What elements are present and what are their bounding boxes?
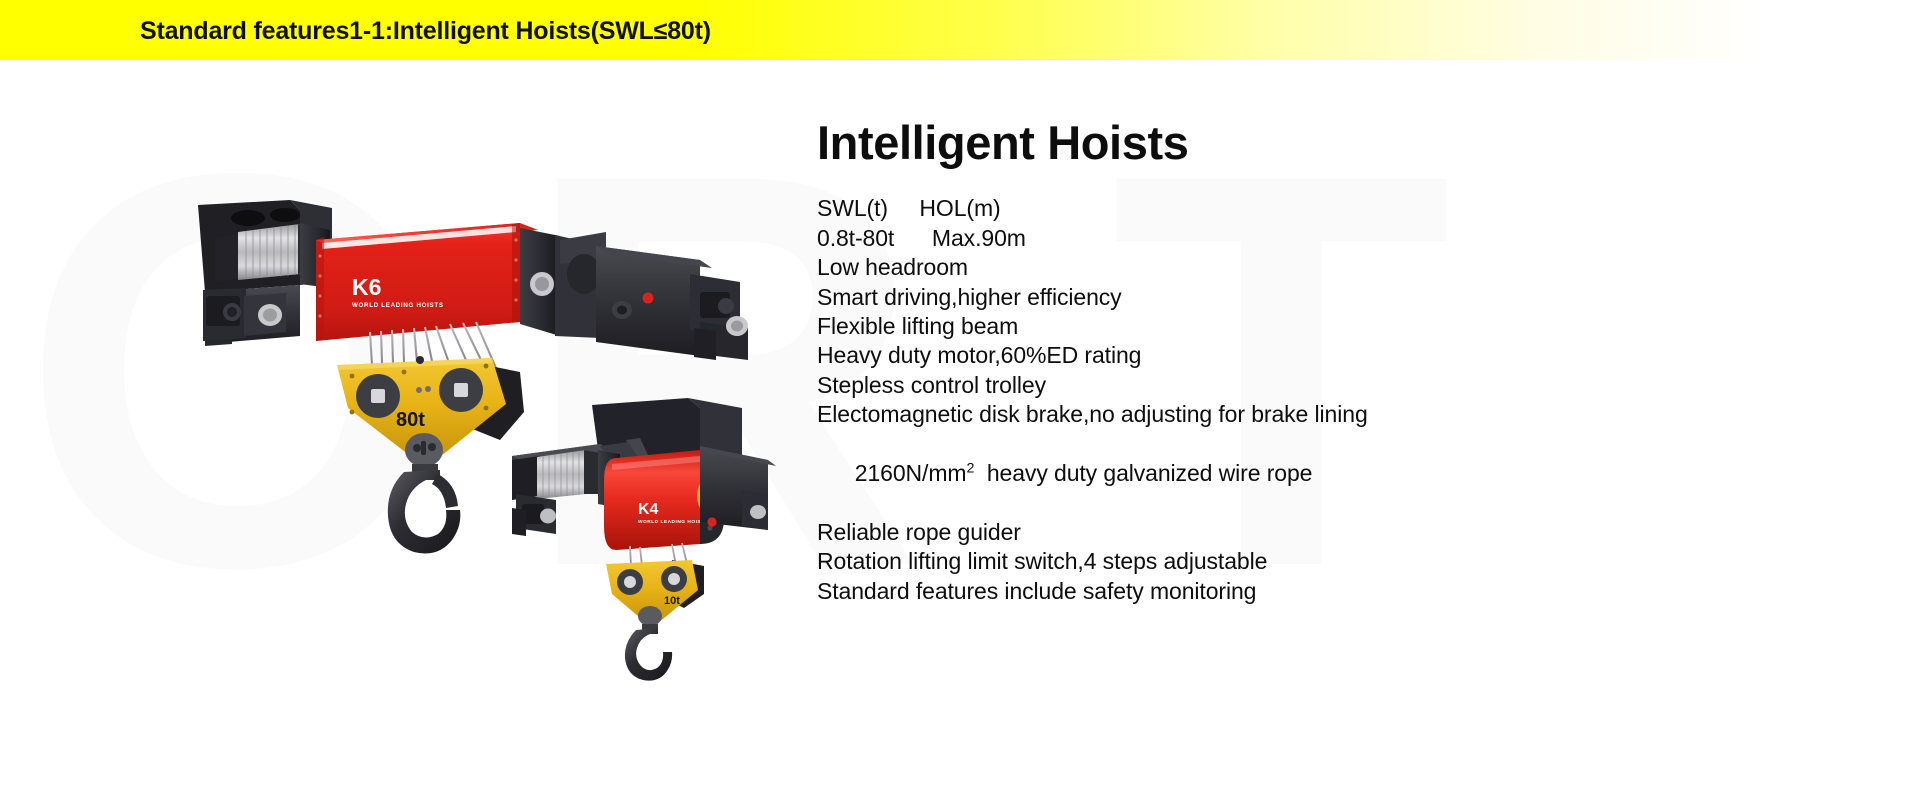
- k6-model-label: K6: [352, 274, 381, 300]
- spec-item-disk-brake: Electomagnetic disk brake,no adjusting f…: [817, 400, 1597, 429]
- spec-item-low-headroom: Low headroom: [817, 253, 1597, 282]
- wire-rope-suffix: heavy duty galvanized wire rope: [974, 460, 1312, 486]
- page-title: Standard features1-1:Intelligent Hoists(…: [140, 17, 711, 46]
- product-image-stage: K6 WORLD LEADING HOISTS: [0, 60, 820, 800]
- spec-item-motor-rating: Heavy duty motor,60%ED rating: [817, 341, 1597, 370]
- wire-rope-prefix: 2160N/mm: [855, 460, 967, 486]
- k4-capacity-label: 10t: [664, 595, 680, 607]
- k4-model-label: K4: [638, 501, 659, 518]
- header-banner: Standard features1-1:Intelligent Hoists(…: [0, 0, 1920, 60]
- k4-tagline-label: WORLD LEADING HOISTS: [638, 519, 709, 525]
- hoist-illustration: K6 WORLD LEADING HOISTS: [0, 60, 820, 800]
- spec-item-rope-guider: Reliable rope guider: [817, 518, 1597, 547]
- spec-item-smart-driving: Smart driving,higher efficiency: [817, 283, 1597, 312]
- spec-list: SWL(t) HOL(m) 0.8t-80t Max.90m Low headr…: [817, 194, 1597, 606]
- spec-item-headers: SWL(t) HOL(m): [817, 194, 1597, 223]
- k6-hook: [388, 464, 461, 554]
- info-panel: Intelligent Hoists SWL(t) HOL(m) 0.8t-80…: [817, 118, 1597, 606]
- spec-item-lifting-beam: Flexible lifting beam: [817, 312, 1597, 341]
- k6-hook-block: 80t: [337, 356, 524, 468]
- spec-item-limit-switch: Rotation lifting limit switch,4 steps ad…: [817, 547, 1597, 576]
- spec-item-safety-monitoring: Standard features include safety monitor…: [817, 577, 1597, 606]
- k4-hook-block: 10t: [606, 560, 704, 628]
- k6-tagline-label: WORLD LEADING HOISTS: [352, 302, 444, 309]
- k4-hook: [625, 624, 672, 681]
- product-heading: Intelligent Hoists: [817, 118, 1597, 167]
- k6-capacity-label: 80t: [396, 409, 425, 431]
- spec-item-control-trolley: Stepless control trolley: [817, 371, 1597, 400]
- spec-item-ranges: 0.8t-80t Max.90m: [817, 224, 1597, 253]
- spec-item-wire-rope: 2160N/mm2 heavy duty galvanized wire rop…: [817, 430, 1597, 518]
- hoist-unit-k4: K4 WORLD LEADING HOISTS: [512, 398, 776, 681]
